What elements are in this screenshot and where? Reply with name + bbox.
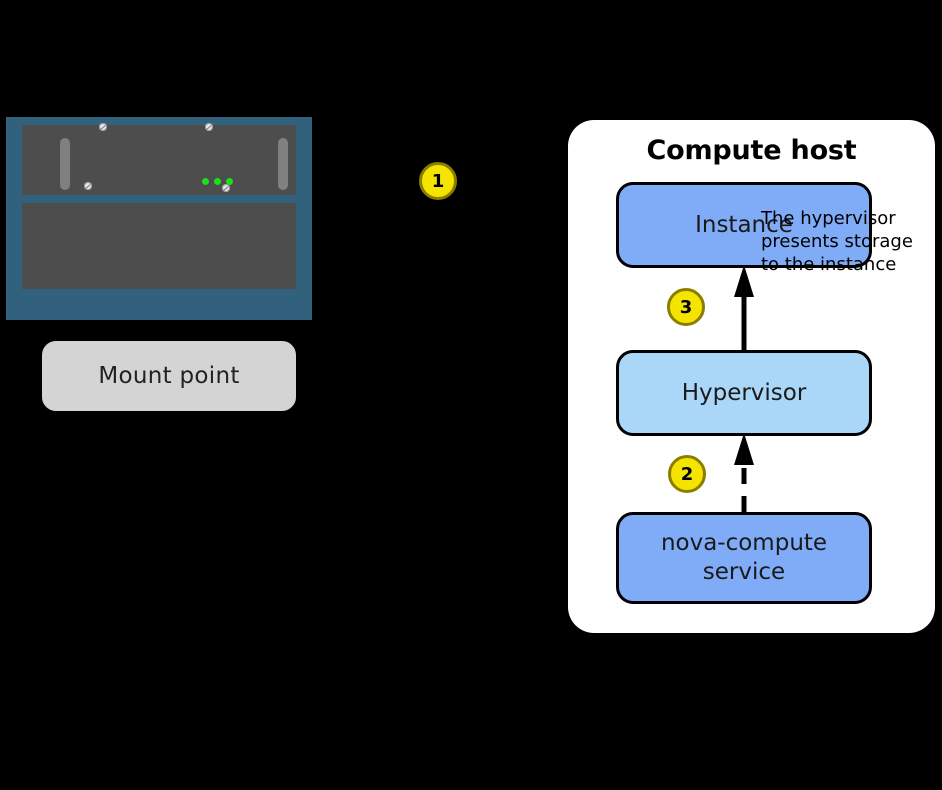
screw-icon-top-right — [205, 123, 213, 131]
screw-icon-bottom-left — [84, 182, 92, 190]
arrow-hypervisor-to-instance — [734, 265, 754, 350]
step-badge-3: 3 — [667, 288, 705, 326]
rack-handle-right — [278, 138, 288, 190]
mount-point-box: Mount point — [39, 338, 299, 414]
screw-icon-top-left — [99, 123, 107, 131]
screw-icon-bottom-right — [222, 184, 230, 192]
annotation-line-1: The hypervisor — [761, 207, 931, 230]
node-nova-compute: nova-compute service — [616, 512, 872, 604]
step-badge-1: 1 — [419, 162, 457, 200]
compute-host-panel: Compute host Instance Hypervisor nova-co… — [568, 120, 935, 633]
annotation-line-2: presents storage — [761, 230, 931, 253]
annotation-line-3: to the instance — [761, 253, 931, 276]
rack-face-bottom — [22, 203, 296, 289]
annotation-hypervisor-presents-storage: The hypervisor presents storage to the i… — [761, 207, 931, 276]
node-nova-compute-line2: service — [703, 559, 785, 585]
step-badge-2: 2 — [668, 455, 706, 493]
storage-array-device: Mount point — [6, 117, 312, 320]
status-led-2 — [214, 178, 221, 185]
rack-handle-left — [60, 138, 70, 190]
arrow-nova-compute-to-hypervisor — [734, 433, 754, 512]
rack-face-top — [22, 125, 296, 195]
compute-host-title: Compute host — [568, 135, 935, 166]
status-led-1 — [202, 178, 209, 185]
status-led-3 — [226, 178, 233, 185]
node-nova-compute-line1: nova-compute — [661, 530, 827, 556]
node-hypervisor: Hypervisor — [616, 350, 872, 436]
